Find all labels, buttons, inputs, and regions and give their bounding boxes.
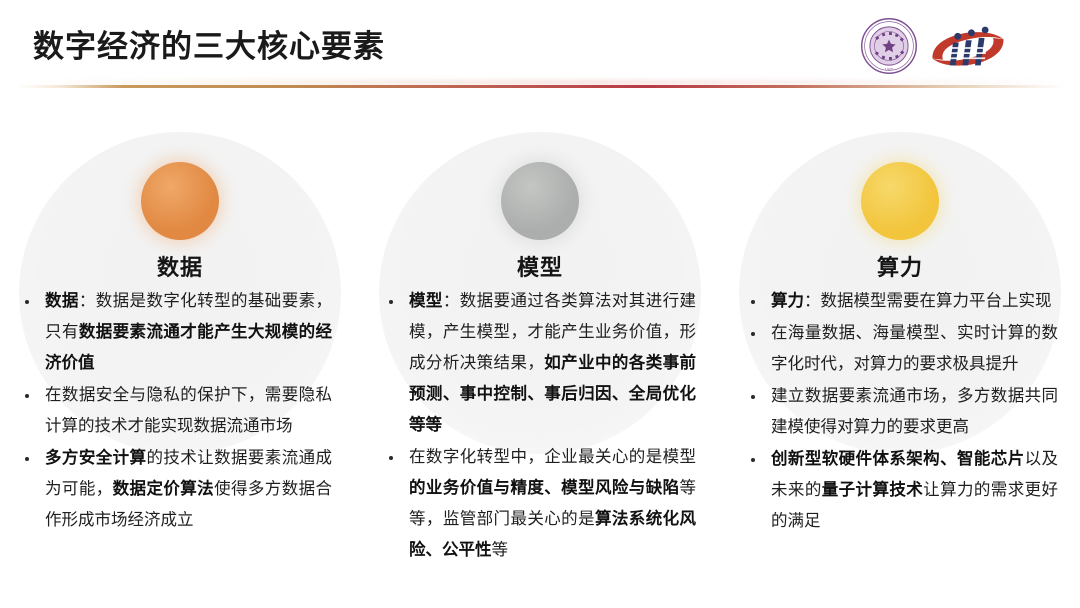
- bullet-item: 算力：数据模型需要在算力平台上实现: [746, 286, 1058, 317]
- bullet-item: 在数字化转型中，企业最关心的是模型的业务价值与精度、模型风险与缺陷等等，监管部门…: [384, 442, 696, 566]
- bullet-emphasis: 量子计算技术: [822, 481, 923, 499]
- bullet-text: ：数据模型需要在算力平台上实现: [804, 292, 1052, 310]
- university-seal-logo: 1905: [860, 17, 918, 75]
- page-title: 数字经济的三大核心要素: [33, 28, 385, 65]
- bullet-emphasis: 创新型软硬件体系架构、智能芯片: [771, 450, 1025, 468]
- bullet-emphasis: 模型: [409, 292, 443, 310]
- svg-text:1905: 1905: [884, 66, 894, 71]
- column-data: 数据 数据：数据是数字化转型的基础要素，只有数据要素流通才能产生大规模的经济价值…: [0, 118, 360, 608]
- bullet-item: 多方安全计算的技术让数据要素流通成为可能，数据定价算法使得多方数据合作形成市场经…: [20, 443, 332, 536]
- bullet-list-computing-power: 算力：数据模型需要在算力平台上实现在海量数据、海量模型、实时计算的数字化时代，对…: [746, 286, 1058, 538]
- bullet-emphasis: 的业务价值与精度、模型风险与缺陷: [409, 479, 680, 497]
- institute-swoosh-logo: [928, 16, 1008, 76]
- bullet-emphasis: 算力: [771, 292, 804, 310]
- bullet-emphasis: 数据要素流通才能产生大规模的经济价值: [45, 323, 332, 372]
- bullet-item: 模型：数据要通过各类算法对其进行建模，产生模型，才能产生业务价值，形成分析决策结…: [384, 286, 696, 441]
- column-title-data: 数据: [0, 250, 360, 282]
- bullet-text: 建立数据要素流通市场，多方数据共同建模使得对算力的要求更高: [771, 387, 1058, 436]
- bubble-icon-model: [501, 162, 579, 240]
- slide-header: 数字经济的三大核心要素 1905: [0, 0, 1080, 96]
- three-element-columns: 数据 数据：数据是数字化转型的基础要素，只有数据要素流通才能产生大规模的经济价值…: [0, 118, 1080, 608]
- logo-group: 1905: [860, 16, 1008, 76]
- bullet-item: 在海量数据、海量模型、实时计算的数字化时代，对算力的要求极具提升: [746, 318, 1058, 380]
- title-divider: [18, 85, 1066, 88]
- column-model: 模型 模型：数据要通过各类算法对其进行建模，产生模型，才能产生业务价值，形成分析…: [360, 118, 720, 608]
- column-title-computing-power: 算力: [720, 250, 1080, 282]
- bullet-list-model: 模型：数据要通过各类算法对其进行建模，产生模型，才能产生业务价值，形成分析决策结…: [384, 286, 696, 567]
- bubble-icon-data: [141, 162, 219, 240]
- bullet-item: 创新型软硬件体系架构、智能芯片以及未来的量子计算技术让算力的需求更好的满足: [746, 444, 1058, 537]
- bullet-item: 建立数据要素流通市场，多方数据共同建模使得对算力的要求更高: [746, 381, 1058, 443]
- bullet-text: 在海量数据、海量模型、实时计算的数字化时代，对算力的要求极具提升: [771, 324, 1058, 373]
- bullet-text: 在数字化转型中，企业最关心的是模型: [409, 448, 696, 466]
- column-title-model: 模型: [360, 250, 720, 282]
- bullet-emphasis: 多方安全计算: [45, 449, 146, 467]
- bubble-icon-computing-power: [861, 162, 939, 240]
- bullet-text: 等: [492, 541, 509, 559]
- bullet-item: 在数据安全与隐私的保护下，需要隐私计算的技术才能实现数据流通市场: [20, 380, 332, 442]
- bullet-emphasis: 数据: [45, 292, 79, 310]
- bullet-item: 数据：数据是数字化转型的基础要素，只有数据要素流通才能产生大规模的经济价值: [20, 286, 332, 379]
- bullet-text: 在数据安全与隐私的保护下，需要隐私计算的技术才能实现数据流通市场: [45, 386, 332, 435]
- bullet-emphasis: 数据定价算法: [113, 480, 214, 498]
- bullet-list-data: 数据：数据是数字化转型的基础要素，只有数据要素流通才能产生大规模的经济价值在数据…: [20, 286, 332, 537]
- column-computing-power: 算力 算力：数据模型需要在算力平台上实现在海量数据、海量模型、实时计算的数字化时…: [720, 118, 1080, 608]
